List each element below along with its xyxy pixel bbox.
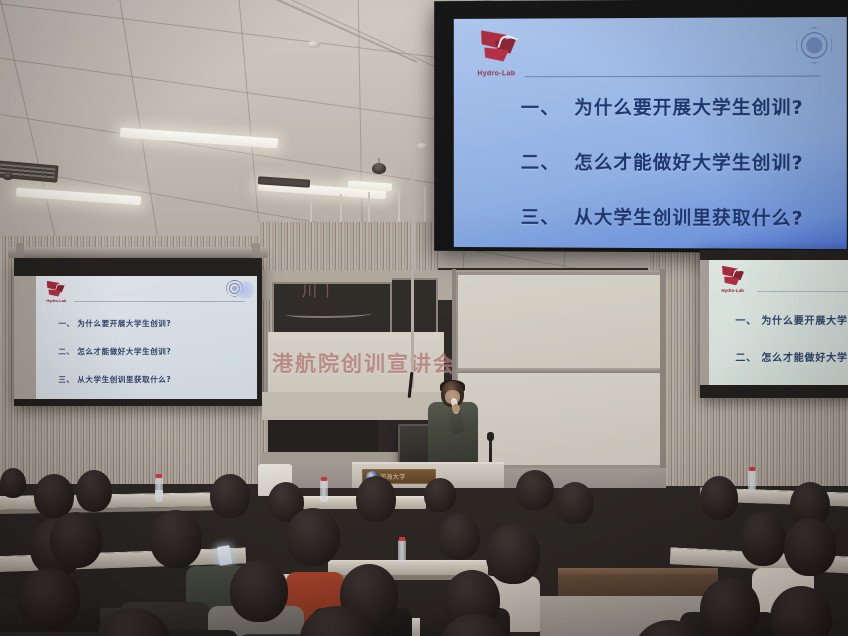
hydro-lab-logo-icon xyxy=(46,281,57,292)
audience-head xyxy=(700,476,738,520)
dark-board-panel xyxy=(268,418,378,454)
ceiling-drop-rod xyxy=(398,190,400,226)
bottle-label xyxy=(155,490,163,497)
water-bottle xyxy=(748,470,756,492)
audience-head xyxy=(150,510,202,568)
right-projected-slide: Hydro-Lab 一、 为什么要开展大学生创训? 二、 怎么才能做好大学生创训… xyxy=(709,260,848,384)
audience-head xyxy=(34,474,74,518)
audience-head xyxy=(486,524,540,584)
slide-line-text: 为什么要开展大学生创训? xyxy=(761,312,848,327)
security-camera-icon xyxy=(3,172,13,180)
slide-line-text: 怎么才能做好大学生创训? xyxy=(574,149,803,175)
slide-line-text: 怎么才能做好大学生创训? xyxy=(77,346,171,357)
whiteboard-marker-tray xyxy=(458,368,660,373)
audience-head xyxy=(740,512,786,566)
hydro-lab-logo-text: Hydro-Lab xyxy=(46,298,66,303)
slide-line: 二、 怎么才能做好大学生创训? xyxy=(58,346,251,357)
phone-screen[interactable] xyxy=(217,545,233,566)
slide-line: 二、 怎么才能做好大学生创训? xyxy=(521,149,833,176)
screen-side-band xyxy=(14,276,36,399)
microphone-head-icon[interactable] xyxy=(487,432,494,441)
slide-line-text: 从大学生创训里获取什么? xyxy=(77,374,171,385)
bottle-cap xyxy=(399,537,405,541)
slide-line-number: 一、 xyxy=(735,312,761,327)
ceiling-drop-rod xyxy=(368,192,370,226)
audience-head xyxy=(18,568,80,630)
smoke-detector-icon xyxy=(416,143,429,150)
slide-line-text: 从大学生创训里获取什么? xyxy=(574,204,803,231)
water-bottle xyxy=(398,540,406,562)
whiteboard-upper-panel xyxy=(455,272,663,372)
slide-line-number: 三、 xyxy=(58,374,77,385)
bottle-cap xyxy=(749,467,755,471)
slide-line-number: 一、 xyxy=(58,318,77,329)
slide-line-text: 怎么才能做好大学生创训? xyxy=(761,349,848,364)
audience-head xyxy=(516,470,554,510)
screen-roller-bar[interactable] xyxy=(8,247,268,258)
audience-seating xyxy=(0,456,848,636)
left-projected-slide: Hydro-Lab 一、 为什么要开展大学生创训? 二、 怎么才能做好大学生创训… xyxy=(36,276,257,399)
slide-line: 一、 为什么要开展大学生创训? xyxy=(735,312,848,327)
right-projection-screen[interactable]: Hydro-Lab 一、 为什么要开展大学生创训? 二、 怎么才能做好大学生创训… xyxy=(700,250,848,398)
left-projection-screen[interactable]: Hydro-Lab 一、 为什么要开展大学生创训? 二、 怎么才能做好大学生创训… xyxy=(14,258,262,406)
slide-line-number: 二、 xyxy=(58,346,77,357)
audience-head xyxy=(770,586,832,636)
audience-head xyxy=(210,474,250,518)
projector-light-leak xyxy=(235,281,255,299)
audience-head xyxy=(784,518,836,576)
main-slide-canvas: Hydro-Lab 一、 为什么要开展大学生创训? 二、 怎么才能做好大学生创训… xyxy=(454,17,847,249)
hydro-lab-logo-icon xyxy=(479,31,522,73)
audience-head xyxy=(556,482,594,524)
audience-head xyxy=(286,508,340,566)
university-seal-icon xyxy=(796,27,833,63)
security-camera-icon xyxy=(372,163,386,174)
audience-head xyxy=(438,514,480,560)
slide-line-number: 二、 xyxy=(735,349,761,364)
bottle-cap xyxy=(321,477,327,481)
slide-line-text: 为什么要开展大学生创训? xyxy=(574,94,803,120)
screen-side-band xyxy=(700,260,709,384)
audience-head xyxy=(356,476,396,522)
event-banner-text: 港航院创训宣讲会 xyxy=(272,348,456,378)
slide-line: 三、 从大学生创训里获取什么? xyxy=(521,204,833,231)
audience-head xyxy=(424,478,456,512)
slide-header-rule xyxy=(757,291,848,292)
slide-header-rule xyxy=(74,301,245,302)
projector-drop-pole xyxy=(411,166,414,388)
slide-line-number: 二、 xyxy=(521,149,574,175)
slide-line-number: 三、 xyxy=(521,204,574,230)
hydro-lab-logo-icon xyxy=(721,266,738,282)
ceiling-drop-rod xyxy=(424,186,426,226)
audience-head xyxy=(50,512,102,568)
slide-line: 一、 为什么要开展大学生创训? xyxy=(521,94,833,120)
slide-header-rule xyxy=(525,76,821,78)
audience-head xyxy=(76,470,112,512)
slide-line: 一、 为什么要开展大学生创训? xyxy=(58,318,251,329)
slide-line-text: 为什么要开展大学生创训? xyxy=(77,318,171,329)
event-banner: 港航院创训宣讲会 xyxy=(268,332,444,394)
audience-head xyxy=(230,560,288,622)
lecture-hall-photo: Hydro-Lab 一、 为什么要开展大学生创训? 二、 怎么才能做好大学生创训… xyxy=(0,0,848,636)
slide-line: 二、 怎么才能做好大学生创训? xyxy=(735,349,848,364)
whiteboard-lower-panel xyxy=(455,370,663,468)
main-led-display[interactable]: Hydro-Lab 一、 为什么要开展大学生创训? 二、 怎么才能做好大学生创训… xyxy=(434,0,848,253)
hydro-lab-logo-text: Hydro-Lab xyxy=(721,288,744,293)
smoke-detector-icon xyxy=(307,41,320,48)
audience-head xyxy=(0,468,26,498)
audience-head xyxy=(700,578,760,636)
front-wall-strip xyxy=(262,392,444,420)
presenter-hand xyxy=(452,404,460,413)
slide-bullet-list: 一、 为什么要开展大学生创训? 二、 怎么才能做好大学生创训? 三、 从大学生创… xyxy=(521,94,833,249)
slide-line-number: 一、 xyxy=(521,94,574,120)
slide-line: 三、 从大学生创训里获取什么? xyxy=(58,374,251,385)
whiteboard-frame-right xyxy=(660,269,665,471)
bottle-cap xyxy=(156,474,162,478)
hydro-lab-logo-text: Hydro-Lab xyxy=(477,70,515,77)
board-scribble: 川丨 xyxy=(302,280,338,301)
water-bottle xyxy=(320,480,328,502)
